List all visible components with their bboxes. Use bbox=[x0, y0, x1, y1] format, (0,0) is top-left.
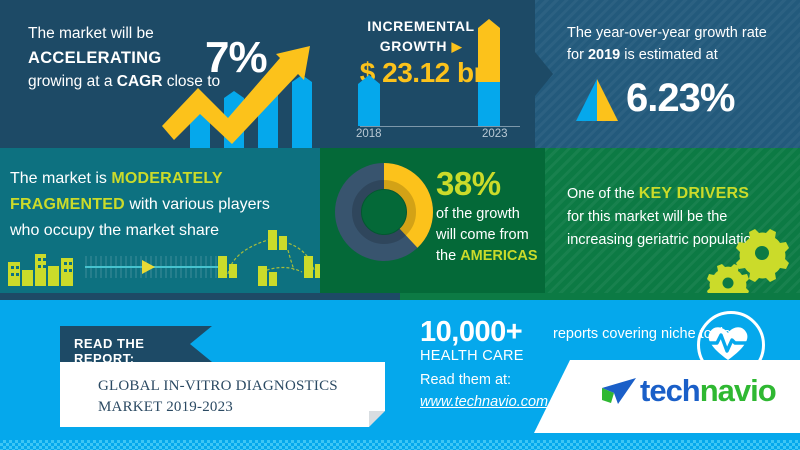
key-drivers-highlight: KEY DRIVERS bbox=[639, 185, 749, 202]
incremental-title-line2: GROWTH bbox=[380, 38, 447, 54]
frag-highlight-1: MODERATELY bbox=[111, 170, 222, 187]
donut-chart bbox=[334, 162, 434, 262]
cagr-line-3-bold: CAGR bbox=[117, 73, 163, 90]
fragmentation-panel: The market is MODERATELY FRAGMENTED with… bbox=[0, 148, 320, 293]
key-drivers-panel: One of the KEY DRIVERS for this market w… bbox=[545, 148, 800, 293]
axis-label-2018: 2018 bbox=[356, 128, 382, 140]
frag-text-pre: The market is bbox=[10, 170, 111, 187]
top-row: The market will be ACCELERATING growing … bbox=[0, 0, 800, 148]
middle-row: The market is MODERATELY FRAGMENTED with… bbox=[0, 148, 800, 293]
read-the-report-ribbon: READ THE REPORT: bbox=[60, 326, 190, 362]
website-link[interactable]: www.technavio.com bbox=[420, 394, 548, 410]
technavio-logo-panel: technavio bbox=[570, 360, 800, 433]
technavio-logo: technavio bbox=[598, 374, 776, 408]
americas-sub-line2: will come from bbox=[436, 227, 529, 243]
growth-arrow-icon bbox=[160, 18, 330, 146]
incremental-growth-title: INCREMENTAL GROWTH ▶ bbox=[341, 16, 501, 57]
read-them-at-label: Read them at: bbox=[420, 372, 511, 388]
americas-percent: 38% bbox=[436, 166, 541, 202]
yoy-statement: The year-over-year growth rate for 2019 … bbox=[567, 22, 792, 66]
bar-tip-icon bbox=[478, 19, 500, 28]
cagr-line-3-pre: growing at a bbox=[28, 73, 117, 90]
footer-dot-pattern bbox=[0, 440, 800, 450]
incremental-title-line1: INCREMENTAL bbox=[367, 18, 474, 34]
americas-highlight: AMERICAS bbox=[460, 248, 537, 264]
americas-share-text: 38% of the growth will come from the AME… bbox=[436, 166, 541, 267]
yoy-line-2-pre: for bbox=[567, 47, 588, 63]
city-cluster-left-icon bbox=[8, 248, 80, 286]
yoy-line-2-post: is estimated at bbox=[620, 47, 718, 63]
sector-label: HEALTH CARE bbox=[420, 348, 524, 364]
footer-row: READ THE REPORT: GLOBAL IN-VITRO DIAGNOS… bbox=[0, 293, 800, 450]
yoy-line-1: The year-over-year growth rate bbox=[567, 25, 767, 41]
americas-sub-line1: of the growth bbox=[436, 206, 520, 222]
footer-divider-right bbox=[400, 293, 800, 300]
progress-arrow-icon bbox=[142, 260, 155, 274]
axis-label-2023: 2023 bbox=[482, 128, 508, 140]
market-share-progress bbox=[85, 256, 220, 278]
bar-tip-icon bbox=[358, 75, 380, 84]
frag-text-mid: with various players bbox=[125, 196, 270, 213]
key-line-2: for this market will be the bbox=[567, 209, 727, 225]
logo-text-tech: tech bbox=[640, 374, 700, 408]
yoy-value: 6.23% bbox=[626, 76, 734, 121]
key-text-pre: One of the bbox=[567, 186, 639, 202]
page-fold-icon bbox=[369, 411, 385, 427]
gears-icon bbox=[704, 227, 794, 293]
yoy-growth-panel: The year-over-year growth rate for 2019 … bbox=[535, 0, 800, 148]
caret-right-icon: ▶ bbox=[452, 39, 463, 54]
incremental-bar-2023 bbox=[478, 28, 500, 126]
americas-subtext: of the growth will come from the AMERICA… bbox=[436, 204, 541, 267]
report-count: 10,000+ bbox=[420, 316, 522, 349]
up-triangle-icon bbox=[572, 79, 622, 121]
paper-plane-icon bbox=[598, 374, 638, 408]
frag-text-end: who occupy the market share bbox=[10, 222, 219, 239]
chevron-right-icon bbox=[535, 52, 553, 96]
chart-axis-line bbox=[360, 126, 520, 127]
cagr-panel: The market will be ACCELERATING growing … bbox=[0, 0, 330, 148]
cagr-line-1: The market will be bbox=[28, 25, 154, 42]
report-card[interactable]: GLOBAL IN-VITRO DIAGNOSTICS MARKET 2019-… bbox=[60, 362, 385, 427]
americas-sub-line3-pre: the bbox=[436, 248, 460, 264]
city-network-right-icon bbox=[218, 226, 320, 288]
incremental-bar-2018 bbox=[358, 84, 380, 126]
yoy-year: 2019 bbox=[588, 47, 620, 63]
bar-growth-segment bbox=[478, 28, 500, 82]
frag-highlight-2: FRAGMENTED bbox=[10, 196, 125, 213]
report-title: GLOBAL IN-VITRO DIAGNOSTICS MARKET 2019-… bbox=[98, 376, 368, 418]
infographic-canvas: The market will be ACCELERATING growing … bbox=[0, 0, 800, 450]
incremental-growth-panel: INCREMENTAL GROWTH ▶ $ 23.12 bn 2018 202… bbox=[330, 0, 535, 148]
logo-text-navio: navio bbox=[700, 374, 776, 408]
americas-share-panel: 38% of the growth will come from the AME… bbox=[320, 148, 545, 293]
